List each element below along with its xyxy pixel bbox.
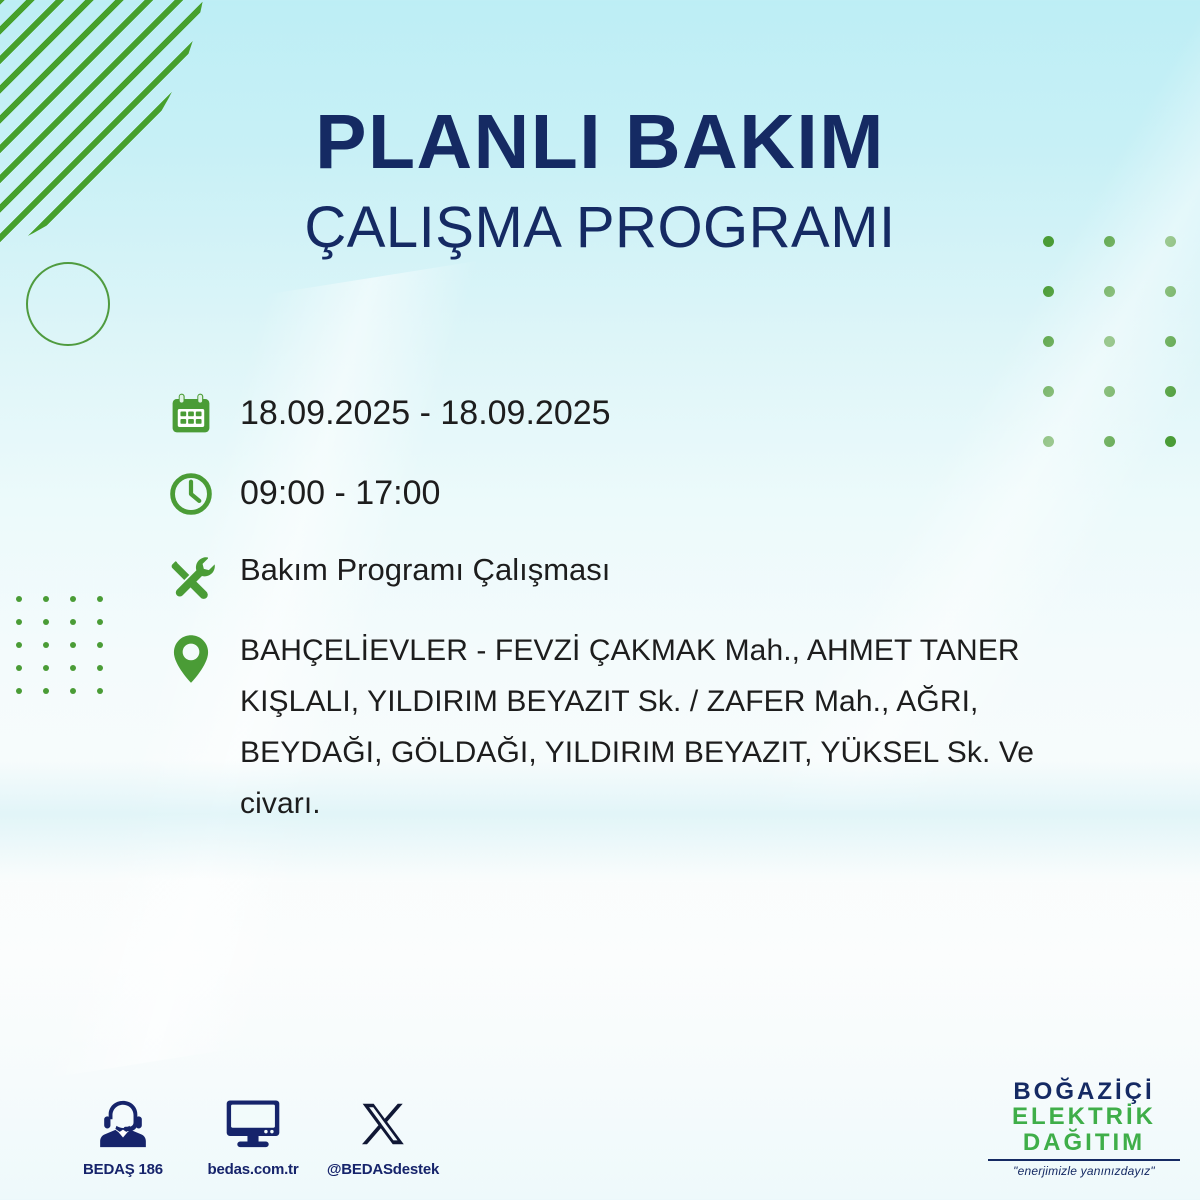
work-type-text: Bakım Programı Çalışması	[240, 543, 610, 597]
date-row: 18.09.2025 - 18.09.2025	[168, 385, 1088, 441]
address-text: BAHÇELİEVLER - FEVZİ ÇAKMAK Mah., AHMET …	[240, 625, 1040, 829]
contact-label: @BEDASdestek	[318, 1161, 448, 1178]
brand-divider	[988, 1159, 1180, 1161]
brand-line-bogazici: BOĞAZİÇİ	[984, 1079, 1184, 1104]
contact-label: BEDAŞ 186	[58, 1161, 188, 1178]
tools-icon	[168, 543, 240, 601]
poster-header: PLANLI BAKIM ÇALIŞMA PROGRAMI	[0, 104, 1200, 257]
x-twitter-icon	[318, 1090, 448, 1152]
contact-call-center[interactable]: BEDAŞ 186	[58, 1090, 188, 1178]
contact-x-account[interactable]: @BEDASdestek	[318, 1090, 448, 1178]
contact-website[interactable]: bedas.com.tr	[188, 1090, 318, 1178]
dot-grid-left-decoration	[16, 596, 103, 694]
page-subtitle: ÇALIŞMA PROGRAMI	[0, 199, 1200, 257]
location-pin-icon	[168, 625, 240, 685]
brand-line-elektrik: ELEKTRİK	[984, 1104, 1184, 1129]
brand-tagline: "enerjimizle yanınızdayız"	[984, 1164, 1184, 1178]
bedas-brand-logo: BOĞAZİÇİ ELEKTRİK DAĞITIM "enerjimizle y…	[984, 1079, 1184, 1178]
monitor-website-icon	[188, 1090, 318, 1152]
contact-label: bedas.com.tr	[188, 1161, 318, 1178]
circle-outline-decoration	[26, 262, 110, 346]
brand-line-dagitim: DAĞITIM	[984, 1130, 1184, 1155]
page-title: PLANLI BAKIM	[0, 104, 1200, 181]
calendar-icon	[168, 385, 240, 437]
time-range-text: 09:00 - 17:00	[240, 465, 440, 521]
date-range-text: 18.09.2025 - 18.09.2025	[240, 385, 611, 441]
headset-support-icon	[58, 1090, 188, 1152]
work-type-row: Bakım Programı Çalışması	[168, 543, 1088, 601]
time-row: 09:00 - 17:00	[168, 465, 1088, 521]
clock-icon	[168, 465, 240, 517]
address-row: BAHÇELİEVLER - FEVZİ ÇAKMAK Mah., AHMET …	[168, 625, 1088, 829]
outage-info-panel: 18.09.2025 - 18.09.2025 09:00 - 17:00 Ba…	[168, 385, 1088, 829]
footer-contacts: BEDAŞ 186 bedas.com.tr @BEDASdestek	[58, 1090, 448, 1178]
